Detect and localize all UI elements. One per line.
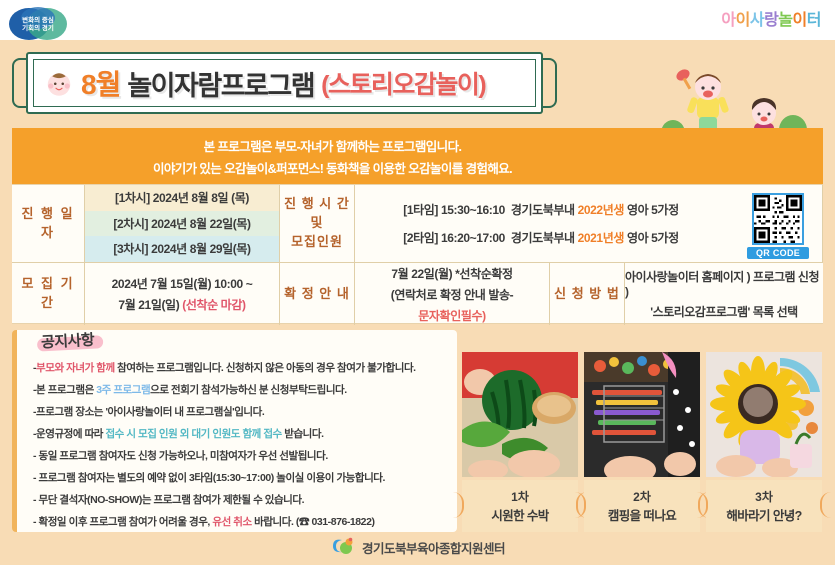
province-logo-line1: 변화의 중심 <box>22 15 54 24</box>
sc-logo-icon <box>330 537 356 557</box>
baby-face-icon <box>44 68 74 98</box>
apply-line-2: '스토리오감프로그램' 목록 선택 <box>650 303 797 320</box>
photo-caption-1: 1차 시원한 수박 <box>462 480 578 532</box>
confirm-line-1: 7월 22일(월) *선착순확정 <box>391 265 512 282</box>
footer-org-name: 경기도북부육아종합지원센터 <box>362 538 505 557</box>
time-slot-1-time: [1타임] 15:30~16:10 <box>403 203 505 217</box>
notice-item-4: -운영규정에 따라 접수 시 모집 인원 외 대기 인원도 함께 접수 받습니다… <box>33 426 447 441</box>
program-info-table: 진 행 일 자 [1차시] 2024년 8월 8일 (목) [2차시] 2024… <box>12 184 823 324</box>
brand-logo: 아이사랑놀이터 <box>721 6 821 30</box>
banner-line-2: 이야기가 있는 오감놀이&퍼포먼스! 동화책을 이용한 오감놀이를 경험해요. <box>153 158 512 177</box>
notice-item-3: -프로그램 장소는 '아이사랑놀이터 내 프로그램실'입니다. <box>33 404 447 419</box>
notice-item-8: - 확정일 이후 프로그램 참여가 어려울 경우, 유선 취소 바랍니다. (☎… <box>33 514 447 529</box>
photo-caption-2: 2차 캠핑을 떠나요 <box>584 480 700 532</box>
photo-card-list: 1차 시원한 수박 <box>462 352 824 532</box>
label-time-capacity: 진 행 시 간 및 모집인원 <box>280 185 355 262</box>
notice-item-1-run-2: 부모와 자녀가 함께 <box>36 362 115 374</box>
notice-item-8-run-3: 바랍니다. (☎ 031-876-1822) <box>252 516 375 528</box>
time-slot-1-tail: 영아 5가정 <box>627 203 679 217</box>
time-slot-1: [1타임] 15:30~16:10 경기도북부내 2022년생 영아 5가정 <box>403 201 678 218</box>
photo-caption-1-number: 1차 <box>511 488 529 505</box>
label-apply-method: 신 청 방 법 <box>550 263 625 325</box>
time-slot-2-region: 경기도북부내 <box>511 231 575 245</box>
notice-item-4-run-1: -운영규정에 따라 <box>33 428 105 440</box>
notice-item-8-run-2: 유선 취소 <box>212 516 251 528</box>
notice-item-2-run-2: 3주 프로그램 <box>96 384 150 396</box>
notice-item-2: -본 프로그램은 3주 프로그램으로 전회기 참석가능하신 분 신청부탁드립니다… <box>33 382 447 397</box>
footer: 경기도북부육아종합지원센터 <box>0 537 835 557</box>
photo-image-watermelon <box>462 352 578 477</box>
photo-card-3: 3차 해바라기 안녕? <box>706 352 822 532</box>
qr-code-image[interactable] <box>752 193 804 245</box>
photo-card-1: 1차 시원한 수박 <box>462 352 578 532</box>
time-slot-2-year: 2021년생 <box>578 231 624 245</box>
period-note: (선착순 마감) <box>182 298 245 312</box>
title-box: 8월 놀이자람프로그램 (스토리오감놀이) <box>26 52 543 114</box>
notice-list: -부모와 자녀가 함께 참여하는 프로그램입니다. 신청하지 않은 아동의 경우… <box>33 360 447 529</box>
qr-code-label: QR CODE <box>747 247 809 259</box>
top-header-strip: 변화의 중심 기회의 경기 아이사랑놀이터 <box>0 0 835 40</box>
confirm-line-2: (연락처로 확정 안내 발송- <box>391 286 513 303</box>
notice-item-1-run-3: 참여하는 프로그램입니다. 신청하지 않은 아동의 경우 참여가 불가합니다. <box>115 362 416 374</box>
poster-page: 변화의 중심 기회의 경기 아이사랑놀이터 8월 <box>0 0 835 565</box>
period-line-2: 7월 21일(일) (선착순 마감) <box>118 296 245 313</box>
cell-apply-method: 아이사랑놀이터 홈페이지 ) 프로그램 신청 ) '스토리오감프로그램' 목록 … <box>625 263 823 325</box>
photo-caption-2-number: 2차 <box>633 488 651 505</box>
session-date-2: [2차시] 2024년 8월 22일(목) <box>85 211 279 237</box>
cell-session-dates: [1차시] 2024년 8월 8일 (목) [2차시] 2024년 8월 22일… <box>85 185 280 262</box>
banner-line-1: 본 프로그램은 부모-자녀가 함께하는 프로그램입니다. <box>204 136 462 155</box>
photo-image-sunflower <box>706 352 822 477</box>
time-slot-1-region: 경기도북부내 <box>511 203 575 217</box>
notice-item-4-run-2: 접수 시 모집 인원 외 대기 인원도 함께 접수 <box>105 428 281 440</box>
photo-caption-3: 3차 해바라기 안녕? <box>706 480 822 532</box>
notice-item-7: - 무단 결석자(NO-SHOW)는 프로그램 참여가 제한될 수 있습니다. <box>33 492 447 507</box>
photo-card-2: 2차 캠핑을 떠나요 <box>584 352 700 532</box>
title-banner: 8월 놀이자람프로그램 (스토리오감놀이) <box>12 52 557 114</box>
time-slot-2: [2타임] 16:20~17:00 경기도북부내 2021년생 영아 5가정 <box>403 229 678 246</box>
qr-code-block[interactable]: QR CODE <box>747 193 809 259</box>
table-row-schedule: 진 행 일 자 [1차시] 2024년 8월 8일 (목) [2차시] 2024… <box>12 185 823 262</box>
notice-title-text: 공지사항 <box>41 332 95 352</box>
time-slot-2-time: [2타임] 16:20~17:00 <box>403 231 505 245</box>
label-dates: 진 행 일 자 <box>12 185 85 262</box>
table-row-registration: 모 집 기 간 2024년 7월 15일(월) 10:00 ~ 7월 21일(일… <box>12 262 823 325</box>
session-date-3: [3차시] 2024년 8월 29일(목) <box>85 236 279 262</box>
notice-item-2-run-3: 으로 전회기 참석가능하신 분 신청부탁드립니다. <box>150 384 347 396</box>
notice-item-1: -부모와 자녀가 함께 참여하는 프로그램입니다. 신청하지 않은 아동의 경우… <box>33 360 447 375</box>
title-month: 8월 <box>81 63 120 103</box>
cell-time-slots: [1타임] 15:30~16:10 경기도북부내 2022년생 영아 5가정 [… <box>355 185 823 262</box>
photo-image-camping <box>584 352 700 477</box>
notice-item-3-run-1: -프로그램 장소는 '아이사랑놀이터 내 프로그램실'입니다. <box>33 406 264 418</box>
label-confirmation: 확 정 안 내 <box>280 263 355 325</box>
photo-caption-1-text: 시원한 수박 <box>491 505 548 524</box>
notice-item-2-run-1: -본 프로그램은 <box>33 384 96 396</box>
notice-item-6: - 프로그램 참여자는 별도의 예약 없이 3타임(15:30~17:00) 놀… <box>33 470 447 485</box>
confirm-line-3: 문자확인필수) <box>418 307 485 324</box>
notice-title: 공지사항 <box>34 326 100 354</box>
notice-item-5-run-1: - 동일 프로그램 참여자도 신청 가능하오나, 미참여자가 우선 선발됩니다. <box>33 450 328 462</box>
ribbon-tail-right <box>541 58 557 108</box>
label-period: 모 집 기 간 <box>12 263 85 325</box>
notice-item-5: - 동일 프로그램 참여자도 신청 가능하오나, 미참여자가 우선 선발됩니다. <box>33 448 447 463</box>
apply-line-1: 아이사랑놀이터 홈페이지 ) 프로그램 신청 ) <box>625 268 823 299</box>
period-line-1: 2024년 7월 15일(월) 10:00 ~ <box>112 275 253 292</box>
notice-item-4-run-3: 받습니다. <box>282 428 324 440</box>
time-slot-2-tail: 영아 5가정 <box>627 231 679 245</box>
gyeonggi-province-logo: 변화의 중심 기회의 경기 <box>7 4 69 44</box>
photo-caption-3-text: 해바라기 안녕? <box>726 505 801 524</box>
notice-item-8-run-1: - 확정일 이후 프로그램 참여가 어려울 경우, <box>33 516 212 528</box>
cell-registration-period: 2024년 7월 15일(월) 10:00 ~ 7월 21일(일) (선착순 마… <box>85 263 280 325</box>
notice-box: 공지사항 -부모와 자녀가 함께 참여하는 프로그램입니다. 신청하지 않은 아… <box>12 330 457 532</box>
intro-banner: 본 프로그램은 부모-자녀가 함께하는 프로그램입니다. 이야기가 있는 오감놀… <box>12 128 823 184</box>
photo-caption-2-text: 캠핑을 떠나요 <box>608 505 676 524</box>
cell-confirmation-info: 7월 22일(월) *선착순확정 (연락처로 확정 안내 발송- 문자확인필수) <box>355 263 550 325</box>
photo-caption-3-number: 3차 <box>755 488 773 505</box>
province-logo-line2: 기회의 경기 <box>22 23 54 32</box>
title-subtitle: (스토리오감놀이) <box>321 65 485 101</box>
session-date-1: [1차시] 2024년 8월 8일 (목) <box>85 185 279 211</box>
notice-item-6-run-1: - 프로그램 참여자는 별도의 예약 없이 3타임(15:30~17:00) 놀… <box>33 472 385 484</box>
title-main: 놀이자람프로그램 <box>127 64 314 103</box>
notice-item-7-run-1: - 무단 결석자(NO-SHOW)는 프로그램 참여가 제한될 수 있습니다. <box>33 494 304 506</box>
time-slot-1-year: 2022년생 <box>578 203 624 217</box>
